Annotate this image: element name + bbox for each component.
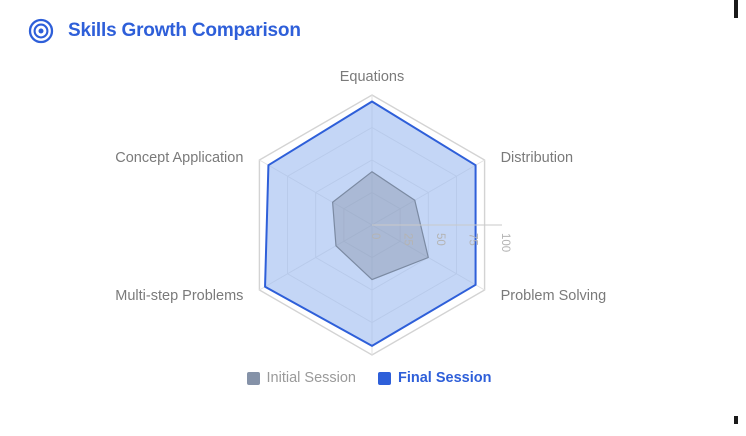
radial-tick-label: 50 <box>434 233 446 246</box>
radial-tick-label: 100 <box>499 233 511 252</box>
legend-item-initial-session[interactable]: Initial Session <box>247 370 356 386</box>
window-edge-top <box>734 0 738 18</box>
legend-item-final-session[interactable]: Final Session <box>378 370 491 386</box>
legend-label-initial: Initial Session <box>267 370 356 386</box>
radial-tick-label: 75 <box>467 233 479 246</box>
radar-chart-svg: 0255075100 EquationsDistributionProblem … <box>0 46 738 366</box>
category-label: Equations <box>340 69 405 85</box>
page-title: Skills Growth Comparison <box>68 20 301 42</box>
radial-tick-label: 25 <box>402 233 414 246</box>
legend-swatch-initial <box>247 372 260 385</box>
chart-legend: Initial Session Final Session <box>0 370 738 386</box>
target-icon <box>28 18 54 44</box>
category-label: Multi-step Problems <box>115 288 243 304</box>
category-label: Distribution <box>501 150 574 166</box>
chart-card: Skills Growth Comparison 0255075100 Equa… <box>0 0 738 424</box>
category-label: Concept Application <box>115 150 243 166</box>
radial-tick-label: 0 <box>369 233 381 239</box>
radar-chart: 0255075100 EquationsDistributionProblem … <box>0 46 738 366</box>
category-label: Problem Solving <box>501 288 607 304</box>
legend-label-final: Final Session <box>398 370 491 386</box>
window-edge-bottom <box>734 416 738 424</box>
legend-swatch-final <box>378 372 391 385</box>
card-header: Skills Growth Comparison <box>28 18 301 44</box>
